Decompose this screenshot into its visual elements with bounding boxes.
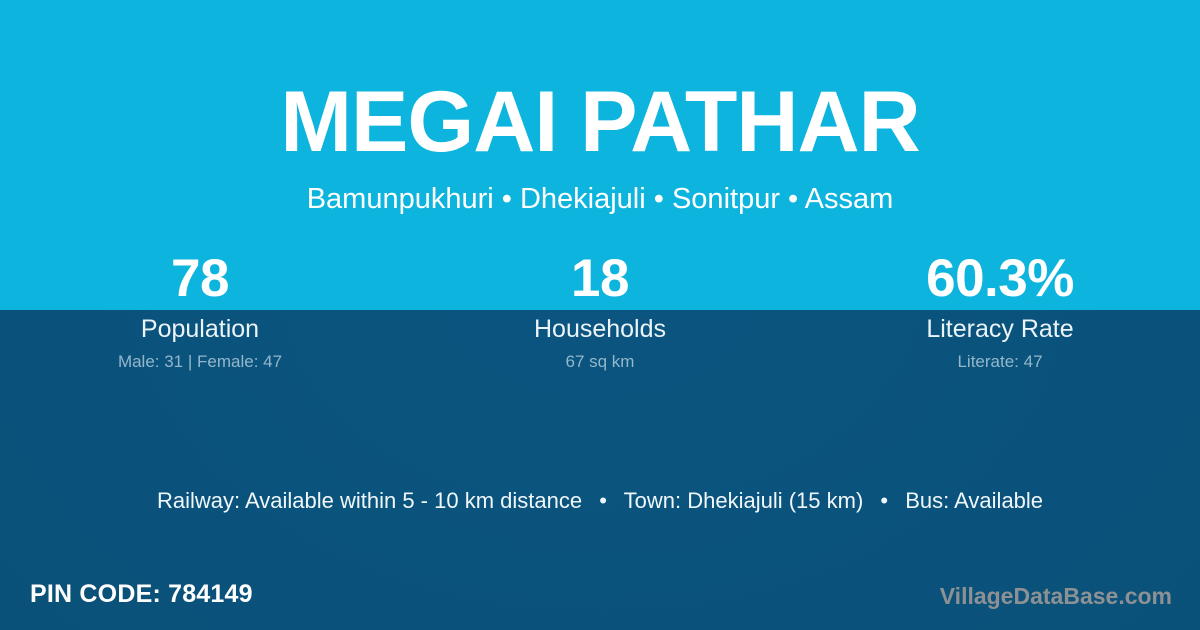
infra-separator-2: • bbox=[869, 487, 899, 515]
stat-detail-literacy: Literate: 47 bbox=[800, 351, 1200, 372]
stat-card-literacy: 60.3% Literacy Rate Literate: 47 bbox=[800, 248, 1200, 388]
infra-railway: Railway: Available within 5 - 10 km dist… bbox=[157, 488, 582, 513]
page-title: MEGAI PATHAR bbox=[0, 76, 1200, 168]
stat-card-households: 18 Households 67 sq km bbox=[400, 248, 800, 388]
stat-label-literacy: Literacy Rate bbox=[800, 314, 1200, 344]
stats-row: 78 Population Male: 31 | Female: 47 18 H… bbox=[0, 248, 1200, 388]
village-info-card: MEGAI PATHAR Bamunpukhuri • Dhekiajuli •… bbox=[0, 0, 1200, 630]
stat-detail-households: 67 sq km bbox=[400, 351, 800, 372]
breadcrumb: Bamunpukhuri • Dhekiajuli • Sonitpur • A… bbox=[0, 182, 1200, 216]
infra-bus: Bus: Available bbox=[905, 488, 1043, 513]
stat-label-population: Population bbox=[0, 314, 400, 344]
stat-value-population: 78 bbox=[0, 248, 400, 310]
site-brand-watermark: VillageDataBase.com bbox=[940, 582, 1172, 610]
stat-label-households: Households bbox=[400, 314, 800, 344]
stat-card-population: 78 Population Male: 31 | Female: 47 bbox=[0, 248, 400, 388]
stat-value-households: 18 bbox=[400, 248, 800, 310]
footer-bar: PIN CODE: 784149 VillageDataBase.com bbox=[0, 558, 1200, 630]
infra-separator-1: • bbox=[588, 487, 618, 515]
infra-town: Town: Dhekiajuli (15 km) bbox=[624, 488, 864, 513]
pin-code-label: PIN CODE: 784149 bbox=[30, 578, 253, 610]
stat-detail-population: Male: 31 | Female: 47 bbox=[0, 351, 400, 372]
stat-value-literacy: 60.3% bbox=[800, 248, 1200, 310]
infrastructure-line: Railway: Available within 5 - 10 km dist… bbox=[0, 487, 1200, 515]
